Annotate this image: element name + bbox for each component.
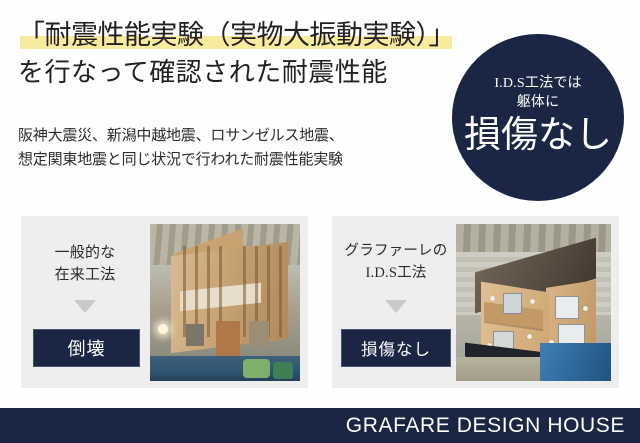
footer-bar: GRAFARE DESIGN HOUSE	[0, 408, 640, 443]
panel-caption-conventional: 一般的な 在来工法	[21, 242, 149, 286]
brand-logotype: GRAFARE DESIGN HOUSE	[346, 414, 625, 438]
no-damage-badge: I.D.S工法では 躯体に 損傷なし	[452, 34, 624, 201]
badge-subtitle-line-2: 躯体に	[517, 93, 560, 112]
panel-caption-ids: グラファーレの I.D.S工法	[332, 240, 460, 284]
panel-caption-line-2: 在来工法	[21, 264, 149, 286]
body-copy-line-2: 想定関東地震と同じ状況で行われた耐震性能実験	[18, 148, 438, 172]
photo-door	[216, 321, 240, 359]
headline-line-2: を行なって確認された耐震性能	[18, 54, 458, 92]
panel-caption-line-1: 一般的な	[21, 242, 149, 264]
badge-headline: 損傷なし	[464, 114, 612, 158]
comparison-panel-conventional: 一般的な 在来工法 倒壊	[21, 216, 308, 388]
photo-stud	[183, 246, 186, 337]
panel-result-no-damage: 損傷なし	[341, 329, 451, 367]
photo-window	[186, 324, 204, 346]
badge-subtitle-line-1: I.D.S工法では	[494, 74, 581, 93]
photo-floor	[456, 357, 552, 381]
down-triangle-icon	[74, 300, 96, 313]
headline-line-1: 「耐震性能実験（実物大振動実験）」	[18, 16, 458, 54]
collapsed-house-photo	[150, 224, 300, 381]
photo-stud	[279, 246, 282, 337]
photo-stud	[195, 246, 198, 337]
headline-line-1-text: 「耐震性能実験（実物大振動実験）」	[18, 20, 455, 50]
photo-stud	[207, 246, 210, 337]
headline-line-2-text: を行なって確認された耐震性能	[18, 58, 388, 87]
body-copy: 阪神大震災、新潟中越地震、ロサンゼルス地震、 想定関東地震と同じ状況で行われた耐…	[18, 124, 438, 172]
photo-fastener	[583, 306, 588, 311]
panel-photo-conventional	[150, 224, 300, 381]
photo-stud	[243, 246, 246, 337]
panel-result-collapse: 倒壊	[33, 329, 140, 367]
comparison-panel-ids: グラファーレの I.D.S工法 損傷なし	[332, 216, 619, 388]
panel-photo-ids	[456, 224, 611, 381]
headline: 「耐震性能実験（実物大振動実験）」 を行なって確認された耐震性能	[18, 16, 458, 92]
intact-house-photo	[456, 224, 611, 381]
advertisement-page: 「耐震性能実験（実物大振動実験）」 を行なって確認された耐震性能 阪神大震災、新…	[0, 0, 640, 443]
panel-caption-line-2: I.D.S工法	[332, 262, 460, 284]
panel-caption-line-1: グラファーレの	[332, 240, 460, 262]
body-copy-line-1: 阪神大震災、新潟中越地震、ロサンゼルス地震、	[18, 124, 438, 148]
down-triangle-icon	[385, 300, 407, 313]
photo-window	[503, 293, 522, 314]
photo-window	[555, 296, 579, 318]
photo-window	[249, 321, 269, 346]
photo-work-light	[158, 324, 168, 334]
photo-equipment	[273, 362, 293, 379]
photo-equipment	[243, 359, 270, 378]
photo-blue-tarp	[540, 343, 611, 381]
